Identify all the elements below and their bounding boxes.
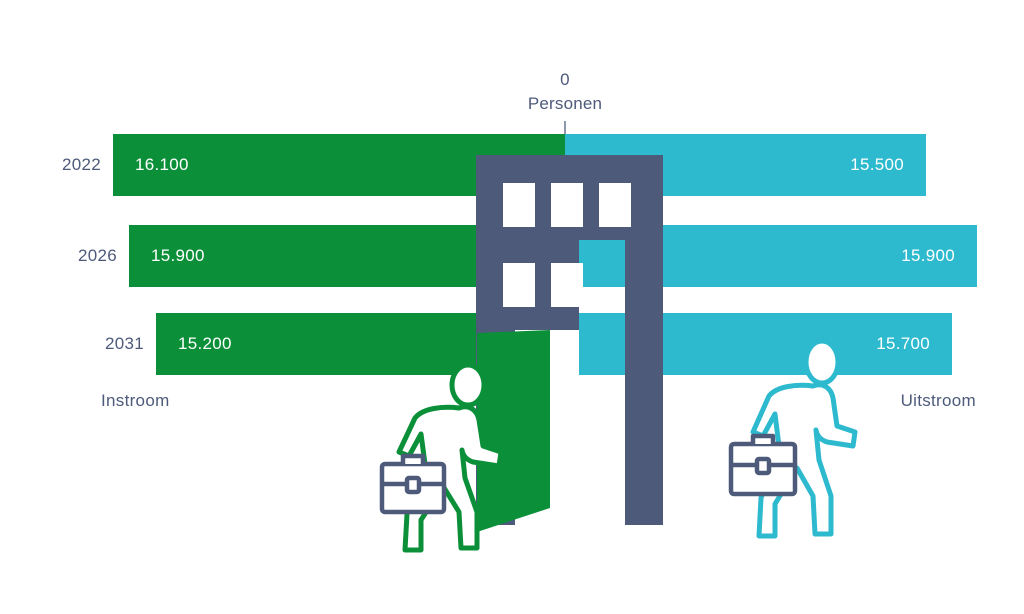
instroom-bar-value: 15.200 [178, 313, 232, 375]
infographic-canvas: 0 Personen 16.10015.500202215.90015.9002… [0, 0, 1024, 614]
year-label: 2031 [84, 313, 144, 375]
uitstroom-bar-value: 15.700 [876, 313, 930, 375]
axis-unit-label: Personen [495, 92, 635, 115]
instroom-bar-value: 15.900 [151, 225, 205, 287]
walking-person-briefcase-green-icon [373, 360, 523, 560]
axis-zero-label: 0 [505, 68, 625, 91]
year-label: 2026 [57, 225, 117, 287]
uitstroom-bar-value: 15.500 [850, 134, 904, 196]
year-label: 2022 [41, 134, 101, 196]
uitstroom-caption: Uitstroom [901, 391, 976, 411]
uitstroom-bar-value: 15.900 [901, 225, 955, 287]
axis-tick-mark [564, 121, 566, 135]
walking-person-briefcase-blue-icon [722, 332, 877, 557]
instroom-bar-value: 16.100 [135, 134, 189, 196]
instroom-caption: Instroom [101, 391, 170, 411]
